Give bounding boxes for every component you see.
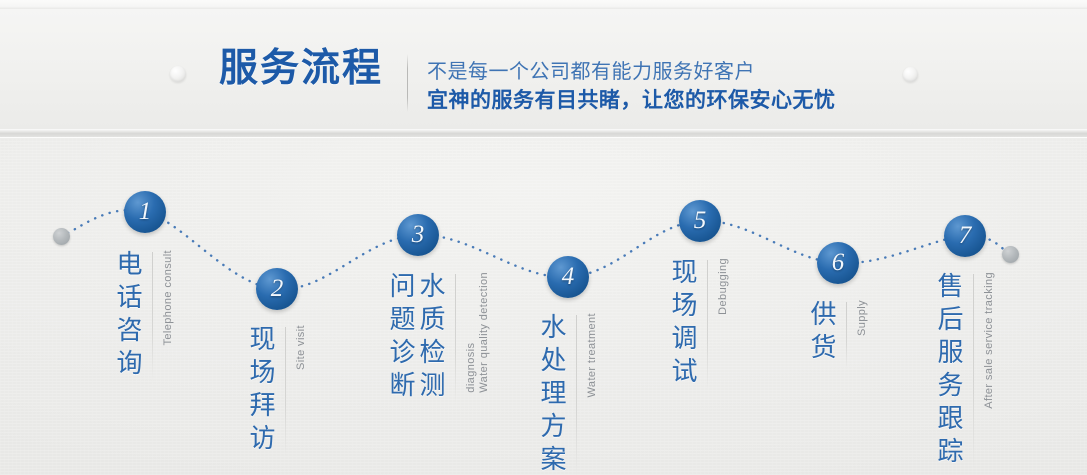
flow-step-label-6: 供货Supply bbox=[807, 300, 869, 368]
top-edge-strip bbox=[0, 0, 1087, 9]
flow-step-label-rule bbox=[152, 252, 153, 382]
flow-step-label-cn-column: 现场拜访 bbox=[246, 325, 276, 457]
flow-step-label-en: Water treatment bbox=[586, 313, 599, 399]
flow-step-node-5[interactable]: 5 bbox=[679, 200, 721, 242]
flow-step-label-rule bbox=[846, 302, 847, 368]
flow-step-number: 1 bbox=[139, 199, 152, 226]
flow-step-node-7[interactable]: 7 bbox=[944, 215, 986, 257]
flow-step-label-cn-column: 售后服务跟踪 bbox=[934, 272, 964, 470]
flow-step-number: 5 bbox=[694, 208, 707, 235]
flow-step-label-1: 电话咨询Telephone consult bbox=[113, 250, 175, 382]
flow-step-number: 3 bbox=[412, 222, 425, 249]
flow-step-node-1[interactable]: 1 bbox=[124, 191, 166, 233]
flow-step-label-cn: 供货 bbox=[807, 300, 837, 366]
flow-area: 1电话咨询Telephone consult2现场拜访Site visit3水质… bbox=[0, 138, 1087, 475]
flow-step-node-3[interactable]: 3 bbox=[397, 214, 439, 256]
flow-step-label-rule bbox=[455, 274, 456, 404]
flow-step-label-cn: 水质检测问题诊断 bbox=[386, 272, 446, 404]
flow-step-label-cn: 电话咨询 bbox=[113, 250, 143, 382]
flow-step-label-cn: 售后服务跟踪 bbox=[934, 272, 964, 470]
service-flow-banner: 服务流程 不是每一个公司都有能力服务好客户 宜神的服务有目共睹，让您的环保安心无… bbox=[0, 0, 1087, 475]
decorative-dot-left bbox=[170, 66, 186, 82]
flow-step-label-cn-column: 水质检测 bbox=[416, 272, 446, 404]
flow-step-label-cn: 现场拜访 bbox=[246, 325, 276, 457]
flow-step-label-en: Supply bbox=[856, 300, 869, 338]
flow-step-label-en-line: After sale service tracking bbox=[983, 272, 996, 411]
flow-step-label-2: 现场拜访Site visit bbox=[246, 325, 308, 457]
flow-step-label-cn-column: 现场调试 bbox=[668, 258, 698, 390]
flow-step-label-5: 现场调试Debugging bbox=[668, 258, 730, 390]
flow-step-label-en-line: Telephone consult bbox=[162, 250, 175, 347]
flow-step-number: 2 bbox=[271, 276, 284, 303]
flow-step-label-4: 水处理方案Water treatment bbox=[537, 313, 599, 475]
flow-step-label-en-line: Water treatment bbox=[586, 313, 599, 399]
decorative-dot-right bbox=[903, 67, 918, 82]
flow-step-label-en: Water quality detectiondiagnosis bbox=[465, 272, 491, 395]
flow-step-label-en: Telephone consult bbox=[162, 250, 175, 347]
flow-step-label-en: After sale service tracking bbox=[983, 272, 996, 411]
flow-step-label-cn: 现场调试 bbox=[668, 258, 698, 390]
header-subtitle-line1: 不是每一个公司都有能力服务好客户 bbox=[427, 58, 836, 86]
flow-step-label-en: Debugging bbox=[717, 258, 730, 317]
header-subtitle-line2: 宜神的服务有目共睹，让您的环保安心无忧 bbox=[427, 86, 836, 116]
flow-step-label-en-line: Site visit bbox=[295, 325, 308, 372]
flow-step-node-2[interactable]: 2 bbox=[256, 268, 298, 310]
flow-step-label-en-line: diagnosis bbox=[465, 272, 478, 395]
flow-step-label-en-line: Supply bbox=[856, 300, 869, 338]
flow-step-label-3: 水质检测问题诊断Water quality detectiondiagnosis bbox=[386, 272, 491, 404]
flow-step-node-6[interactable]: 6 bbox=[817, 242, 859, 284]
flow-step-label-rule bbox=[707, 260, 708, 390]
header-subtitle: 不是每一个公司都有能力服务好客户 宜神的服务有目共睹，让您的环保安心无忧 bbox=[427, 58, 836, 116]
flow-endpoint-dot bbox=[53, 228, 70, 245]
page-title: 服务流程 bbox=[219, 49, 383, 88]
flow-step-label-cn-column: 问题诊断 bbox=[386, 272, 416, 404]
flow-step-label-cn: 水处理方案 bbox=[537, 313, 567, 475]
flow-step-label-en: Site visit bbox=[295, 325, 308, 372]
flow-step-node-4[interactable]: 4 bbox=[547, 256, 589, 298]
flow-step-label-en-line: Debugging bbox=[717, 258, 730, 317]
flow-step-label-cn-column: 水处理方案 bbox=[537, 313, 567, 475]
flow-step-number: 4 bbox=[562, 264, 575, 291]
flow-step-label-cn-column: 供货 bbox=[807, 300, 837, 366]
flow-endpoint-dot bbox=[1002, 246, 1019, 263]
flow-step-label-cn-column: 电话咨询 bbox=[113, 250, 143, 382]
flow-step-number: 7 bbox=[959, 223, 972, 250]
flow-step-label-rule bbox=[576, 315, 577, 475]
header-divider bbox=[407, 54, 408, 112]
flow-step-label-rule bbox=[285, 327, 286, 457]
flow-step-number: 6 bbox=[832, 250, 845, 277]
flow-step-label-en-line: Water quality detection bbox=[478, 272, 491, 395]
flow-step-label-rule bbox=[973, 274, 974, 470]
flow-step-label-7: 售后服务跟踪After sale service tracking bbox=[934, 272, 996, 470]
